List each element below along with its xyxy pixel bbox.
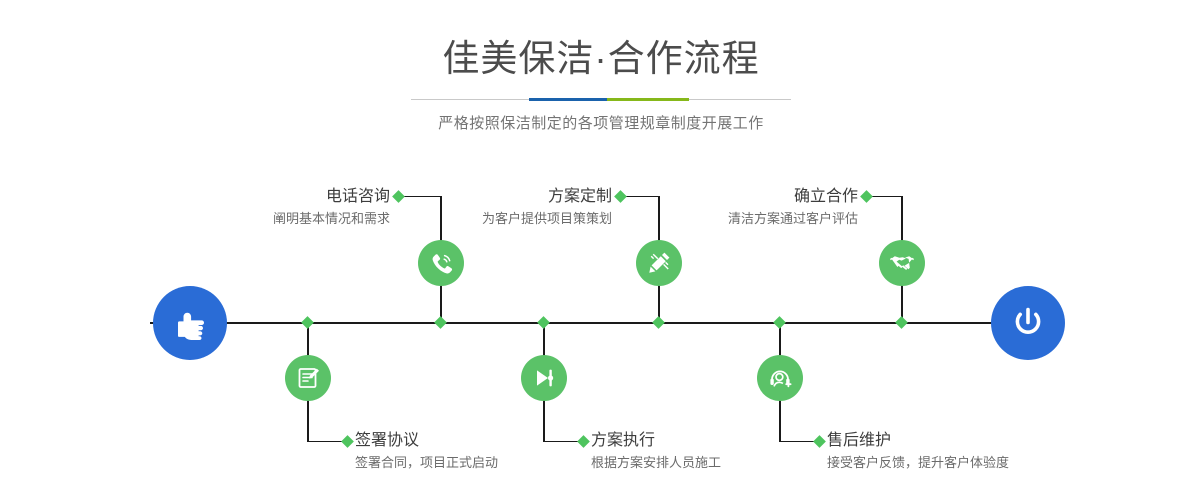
step-node-sign-agreement[interactable]	[285, 355, 331, 401]
phone-call-icon	[427, 249, 455, 277]
step-desc: 阐明基本情况和需求	[130, 208, 390, 230]
pencil-ruler-icon	[645, 249, 673, 277]
step-node-establish-cooperation[interactable]	[879, 240, 925, 286]
customer-service-add-icon	[766, 364, 794, 392]
connector-marker-establish-cooperation	[860, 190, 873, 203]
step-desc: 签署合同，项目正式启动	[355, 452, 615, 474]
step-node-after-sales[interactable]	[757, 355, 803, 401]
connector-marker-sign-agreement	[341, 435, 354, 448]
flow-diagram-page: 佳美保洁·合作流程 严格按照保洁制定的各项管理规章制度开展工作	[0, 0, 1202, 502]
timeline-end-endpoint[interactable]	[991, 286, 1065, 360]
step-label-plan-customization: 方案定制 为客户提供项目策策划	[352, 186, 612, 230]
axis-marker-plan-execution	[537, 316, 550, 329]
axis-marker-plan-customization	[652, 316, 665, 329]
process-timeline: 电话咨询 阐明基本情况和需求 签署协议 签署合同，项目正式启动	[0, 0, 1202, 502]
step-desc: 清洁方案通过客户评估	[598, 208, 858, 230]
axis-marker-phone-consult	[434, 316, 447, 329]
axis-marker-establish-cooperation	[895, 316, 908, 329]
step-node-phone-consult[interactable]	[418, 240, 464, 286]
step-title: 方案定制	[352, 186, 612, 208]
step-label-after-sales: 售后维护 接受客户反馈，提升客户体验度	[827, 430, 1127, 474]
step-label-establish-cooperation: 确立合作 清洁方案通过客户评估	[598, 186, 858, 230]
play-execute-icon	[530, 364, 558, 392]
step-desc: 接受客户反馈，提升客户体验度	[827, 452, 1127, 474]
pointing-hand-icon	[170, 303, 210, 343]
timeline-axis	[150, 322, 1050, 324]
step-node-plan-execution[interactable]	[521, 355, 567, 401]
step-title: 电话咨询	[130, 186, 390, 208]
step-node-plan-customization[interactable]	[636, 240, 682, 286]
power-icon	[1007, 302, 1049, 344]
step-title: 确立合作	[598, 186, 858, 208]
document-sign-icon	[294, 364, 322, 392]
step-title: 售后维护	[827, 430, 1127, 452]
step-title: 签署协议	[355, 430, 615, 452]
handshake-icon	[888, 249, 916, 277]
timeline-start-endpoint[interactable]	[153, 286, 227, 360]
step-label-phone-consult: 电话咨询 阐明基本情况和需求	[130, 186, 390, 230]
step-label-sign-agreement: 签署协议 签署合同，项目正式启动	[355, 430, 615, 474]
axis-marker-after-sales	[773, 316, 786, 329]
axis-marker-sign-agreement	[301, 316, 314, 329]
step-desc: 为客户提供项目策策划	[352, 208, 612, 230]
